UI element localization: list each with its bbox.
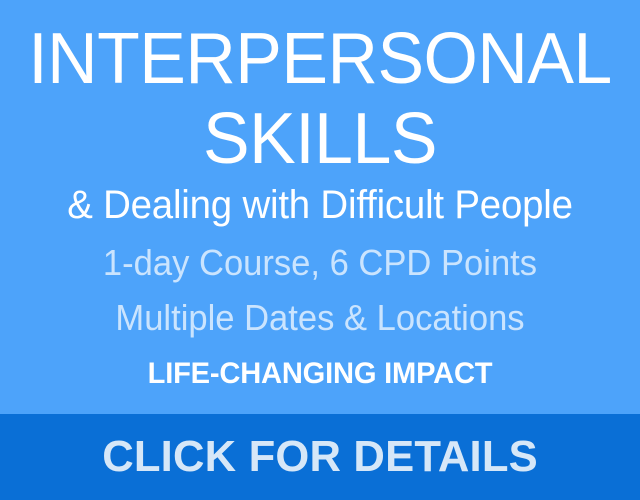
click-for-details-button[interactable]: CLICK FOR DETAILS [0,414,640,500]
banner-headline: INTERPERSONAL SKILLS [10,19,631,179]
promo-banner[interactable]: INTERPERSONAL SKILLS & Dealing with Diff… [0,0,640,500]
cta-label: CLICK FOR DETAILS [102,433,538,481]
headline-line-2: SKILLS [10,99,631,179]
banner-content: INTERPERSONAL SKILLS & Dealing with Diff… [0,0,640,414]
banner-subtitle: & Dealing with Difficult People [13,183,627,227]
banner-detail-dates: Multiple Dates & Locations [13,298,627,338]
headline-line-1: INTERPERSONAL [10,19,631,99]
banner-impact-line: LIFE-CHANGING IMPACT [10,357,631,391]
banner-detail-course: 1-day Course, 6 CPD Points [13,243,627,283]
